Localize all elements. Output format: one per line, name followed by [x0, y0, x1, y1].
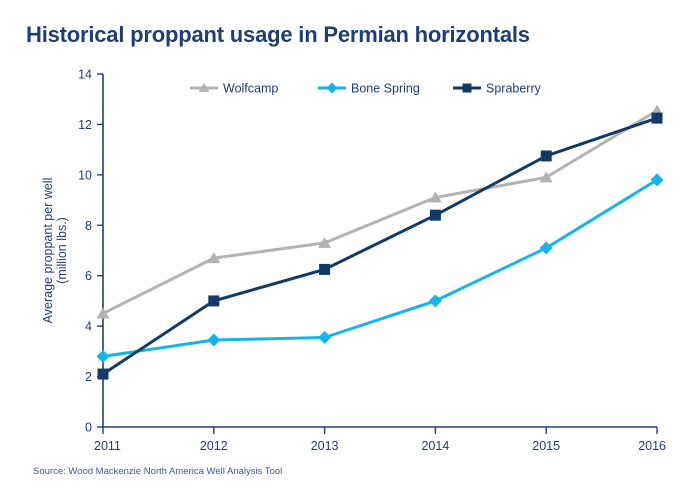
y-tick-label: 10 — [78, 168, 92, 182]
legend-marker-square-icon — [463, 84, 472, 93]
x-tick-label: 2012 — [200, 439, 228, 453]
series-line-bone-spring — [103, 180, 657, 357]
chart-container: Historical proppant usage in Permian hor… — [0, 0, 681, 496]
y-tick-label: 14 — [78, 68, 92, 82]
legend-item-bone-spring[interactable] — [318, 83, 346, 94]
data-point-spraberry-2012[interactable] — [208, 295, 219, 306]
data-point-wolfcamp-2011[interactable] — [97, 308, 110, 319]
data-point-bone-spring-2012[interactable] — [207, 334, 220, 347]
data-point-spraberry-2014[interactable] — [430, 210, 441, 221]
y-axis-title-line2: (million lbs.) — [55, 217, 69, 284]
legend-label-bone-spring: Bone Spring — [351, 82, 420, 96]
line-chart: WolfcampBone SpringSpraberry024681012142… — [0, 0, 681, 496]
data-point-spraberry-2011[interactable] — [98, 369, 109, 380]
data-point-spraberry-2016[interactable] — [652, 113, 663, 124]
data-point-bone-spring-2014[interactable] — [429, 294, 442, 307]
x-tick-label: 2016 — [638, 439, 666, 453]
y-tick-label: 6 — [85, 269, 92, 283]
series-line-wolfcamp — [103, 111, 657, 314]
legend-label-spraberry: Spraberry — [486, 82, 542, 96]
source-note: Source: Wood Mackenzie North America Wel… — [33, 466, 282, 477]
y-tick-label: 12 — [78, 118, 92, 132]
x-tick-label: 2014 — [421, 439, 449, 453]
data-point-spraberry-2013[interactable] — [319, 264, 330, 275]
data-point-spraberry-2015[interactable] — [541, 150, 552, 161]
y-tick-label: 4 — [85, 320, 92, 334]
x-tick-label: 2013 — [311, 439, 339, 453]
y-tick-label: 0 — [85, 421, 92, 435]
y-axis-title-line1: Average proppant per well — [41, 178, 55, 324]
legend-marker-diamond-icon — [327, 83, 338, 94]
data-point-bone-spring-2015[interactable] — [540, 241, 553, 254]
y-tick-label: 8 — [85, 219, 92, 233]
y-tick-label: 2 — [85, 370, 92, 384]
legend-item-wolfcamp[interactable] — [190, 83, 218, 92]
data-point-bone-spring-2011[interactable] — [97, 350, 110, 363]
legend-label-wolfcamp: Wolfcamp — [223, 82, 278, 96]
x-tick-label: 2011 — [94, 439, 121, 453]
x-tick-label: 2015 — [532, 439, 560, 453]
data-point-bone-spring-2013[interactable] — [318, 331, 331, 344]
legend-item-spraberry[interactable] — [453, 84, 481, 93]
series-line-spraberry — [103, 118, 657, 374]
